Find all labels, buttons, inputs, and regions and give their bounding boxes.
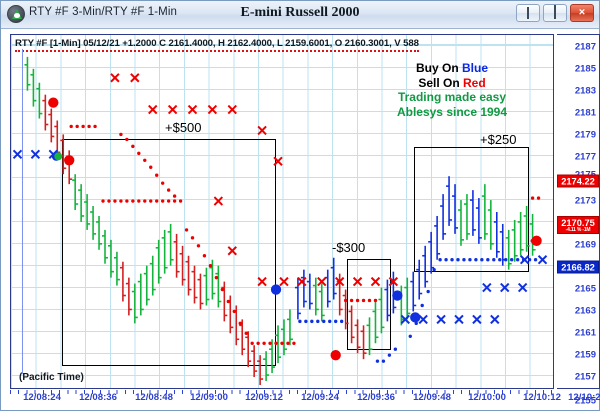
price-tick: 2159 (575, 350, 596, 361)
sell-signal-marker (64, 155, 74, 165)
price-tick: 2181 (575, 108, 596, 119)
sell-signal-marker (48, 97, 58, 107)
time-tick: 12/08:24 (23, 392, 61, 403)
window-title: E-mini Russell 2000 (1, 5, 599, 21)
price-tick: 2163 (575, 306, 596, 317)
maximize-icon (554, 5, 556, 19)
price-tick: 2169 (575, 240, 596, 251)
red-x-markers (111, 74, 397, 286)
price-tick: 2187 (575, 42, 596, 53)
buy-price-marker: 2166.82 (557, 261, 599, 274)
application-window: RTY #F 3-Min/RTY #F 1-Min E-mini Russell… (0, 0, 600, 411)
time-tick: 12/10:24 (568, 392, 600, 403)
sell-price-value-1: 2174.22 (561, 177, 595, 187)
time-tick: 12/08:36 (79, 392, 117, 403)
minimize-button[interactable] (516, 4, 540, 22)
close-button[interactable]: × (570, 4, 594, 22)
sell-price-marker-1: 2174.22 (557, 175, 599, 188)
maximize-button[interactable] (543, 4, 567, 22)
buy-signal-marker (271, 284, 281, 294)
buy-signal-marker (410, 312, 420, 322)
time-tick: 12/09:24 (301, 392, 339, 403)
time-tick: 12/09:12 (245, 392, 283, 403)
price-tick: 2173 (575, 196, 596, 207)
time-tick: 12/09:00 (190, 392, 228, 403)
time-tick: 12/10:00 (468, 392, 506, 403)
price-series-canvas (11, 35, 553, 388)
price-tick: 2165 (575, 284, 596, 295)
sell-price-marker-2: 2170.75 -4.11 % -1M (557, 216, 599, 234)
price-tick: 2185 (575, 64, 596, 75)
price-tick: 2157 (575, 372, 596, 383)
time-tick: 12/10:12 (523, 392, 561, 403)
minimize-icon (527, 7, 529, 19)
price-tick: 2183 (575, 86, 596, 97)
price-tick: 2177 (575, 152, 596, 163)
buy-signal-marker (392, 290, 402, 300)
time-tick: 12/09:48 (413, 392, 451, 403)
time-tick: 12/09:36 (357, 392, 395, 403)
time-tick: 12/08:48 (135, 392, 173, 403)
price-tick: 2179 (575, 130, 596, 141)
price-tick: 2161 (575, 328, 596, 339)
buy-price-value: 2166.82 (561, 263, 595, 273)
sell-signal-marker (531, 236, 541, 246)
window-controls: × (516, 4, 594, 22)
sell-signal-marker (331, 350, 341, 360)
sell-price-sub-2: -4.11 % -1M (558, 228, 598, 233)
time-axis[interactable]: 12/08:24 12/08:36 12/08:48 12/09:00 12/0… (10, 390, 600, 411)
title-bar: RTY #F 3-Min/RTY #F 1-Min E-mini Russell… (1, 1, 599, 29)
price-axis[interactable]: 2187 2185 2183 2181 2179 2177 2175 2174.… (557, 34, 600, 389)
close-icon: × (579, 8, 585, 19)
chart-plot-area[interactable]: RTY #F [1-Min] 05/12/21 +1.2000 C 2161.4… (10, 34, 554, 389)
